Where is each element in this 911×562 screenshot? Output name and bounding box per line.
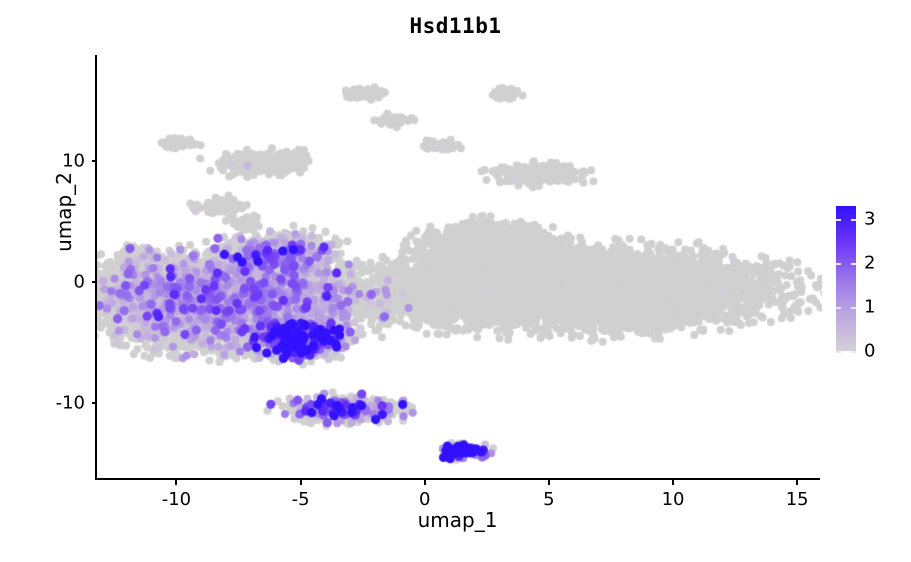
colorbar-tick-mark: [851, 351, 856, 353]
x-tick-label: -10: [162, 489, 191, 510]
colorbar-tick-mark: [851, 263, 856, 265]
colorbar-gradient: [836, 206, 856, 351]
y-tick-mark: [92, 402, 97, 404]
colorbar-tick-mark: [851, 307, 856, 309]
colorbar-tick-mark: [836, 219, 841, 221]
x-tick-label: 10: [662, 489, 685, 510]
y-axis-label: umap_2: [52, 142, 76, 282]
x-axis-label: umap_1: [95, 508, 820, 532]
colorbar: [836, 206, 856, 351]
colorbar-tick-label: 1: [864, 297, 875, 318]
x-tick-mark: [796, 480, 798, 485]
colorbar-tick-label: 0: [864, 341, 875, 362]
colorbar-tick-mark: [836, 263, 841, 265]
colorbar-tick-mark: [836, 307, 841, 309]
x-tick-label: 0: [419, 489, 430, 510]
x-tick-mark: [175, 480, 177, 485]
x-tick-label: -5: [292, 489, 310, 510]
plot-axes: -10-5051015100-10: [95, 55, 820, 480]
scatter-plot-canvas: [97, 55, 822, 480]
x-tick-label: 5: [543, 489, 554, 510]
x-tick-mark: [300, 480, 302, 485]
colorbar-tick-label: 3: [864, 209, 875, 230]
x-tick-mark: [548, 480, 550, 485]
x-tick-mark: [424, 480, 426, 485]
page-title: Hsd11b1: [0, 14, 911, 38]
colorbar-tick-mark: [836, 351, 841, 353]
x-tick-mark: [672, 480, 674, 485]
x-tick-label: 15: [786, 489, 809, 510]
colorbar-tick-mark: [851, 219, 856, 221]
y-tick-mark: [92, 281, 97, 283]
umap-figure: Hsd11b1 -10-5051015100-10 umap_1 umap_2 …: [0, 0, 911, 562]
colorbar-tick-label: 2: [864, 253, 875, 274]
y-tick-label: -10: [56, 392, 85, 413]
y-tick-mark: [92, 160, 97, 162]
